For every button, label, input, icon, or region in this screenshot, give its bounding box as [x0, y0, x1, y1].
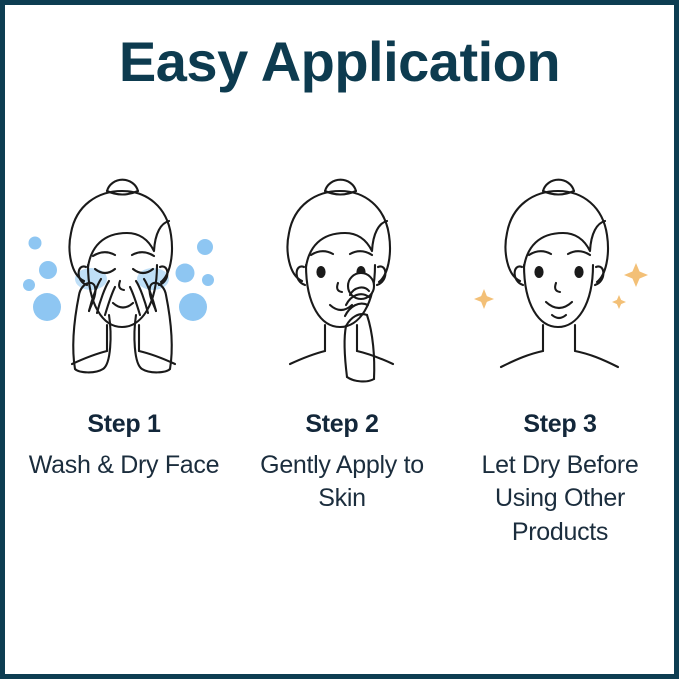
step-3-caption: Let Dry Before Using Other Products [455, 449, 665, 550]
step-2-heading: Step 2 [305, 411, 378, 439]
step-2-illustration [233, 155, 451, 387]
woman-smiling-figure [501, 180, 618, 367]
step-item-1: Step 1 Wash & Dry Face [15, 155, 233, 482]
step-1-heading: Step 1 [87, 411, 160, 439]
woman-applying-figure [288, 180, 393, 382]
bubbles-right [176, 239, 215, 321]
sparkles [474, 263, 648, 309]
step-1-illustration [15, 155, 233, 387]
step-2-caption: Gently Apply to Skin [237, 449, 447, 516]
page-title: Easy Application [119, 33, 560, 92]
step-1-caption: Wash & Dry Face [29, 449, 219, 483]
steps-row: Step 1 Wash & Dry Face [5, 155, 674, 549]
step-item-3: Step 3 Let Dry Before Using Other Produc… [451, 155, 669, 549]
step-3-heading: Step 3 [523, 411, 596, 439]
step-3-illustration [451, 155, 669, 387]
infographic-card: Easy Application [0, 0, 679, 679]
step-item-2: Step 2 Gently Apply to Skin [233, 155, 451, 516]
bubbles-left [23, 237, 61, 322]
